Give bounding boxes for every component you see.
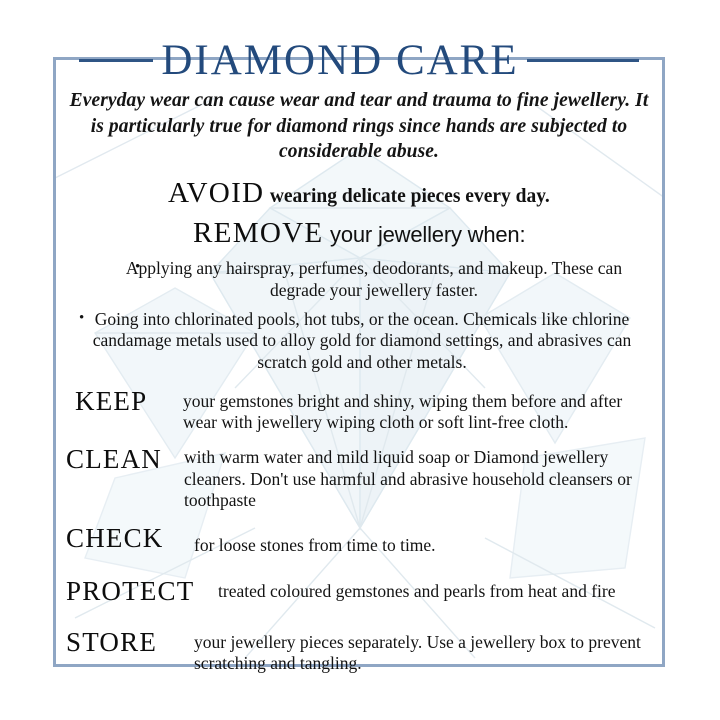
section-keep: KEEP your gemstones bright and shiny, wi…	[61, 386, 657, 434]
section-protect: PROTECT treated coloured gemstones and p…	[61, 576, 657, 607]
avoid-body: wearing delicate pieces every day.	[270, 186, 550, 208]
store-keyword-cell: STORE	[61, 627, 194, 658]
diamond-care-poster: DIAMOND CARE Everyday wear can cause wea…	[0, 0, 720, 720]
remove-bullet-list: • Applying any hairspray, perfumes, deod…	[61, 258, 657, 373]
section-check: CHECK for loose stones from time to time…	[61, 523, 657, 556]
page-title-row: DIAMOND CARE	[61, 39, 657, 82]
clean-body: with warm water and mild liquid soap or …	[184, 444, 657, 511]
page-title: DIAMOND CARE	[159, 39, 520, 82]
check-body: for loose stones from time to time.	[194, 523, 657, 556]
title-rule-right-icon	[527, 59, 639, 62]
avoid-section: AVOID wearing delicate pieces every day.	[61, 178, 657, 210]
remove-keyword: REMOVE	[193, 218, 323, 250]
protect-body: treated coloured gemstones and pearls fr…	[218, 576, 657, 602]
store-body: your jewellery pieces separately. Use a …	[194, 627, 657, 675]
remove-body: your jewellery when:	[330, 222, 525, 248]
intro-paragraph: Everyday wear can cause wear and tear an…	[67, 88, 651, 165]
protect-keyword: PROTECT	[66, 576, 194, 606]
protect-keyword-cell: PROTECT	[61, 576, 218, 607]
section-clean: CLEAN with warm water and mild liquid so…	[61, 444, 657, 511]
clean-keyword: CLEAN	[66, 444, 162, 474]
poster-content: DIAMOND CARE Everyday wear can cause wea…	[53, 57, 665, 667]
keep-body: your gemstones bright and shiny, wiping …	[183, 386, 657, 434]
remove-section: REMOVE your jewellery when:	[61, 218, 657, 250]
list-item-text: Going into chlorinated pools, hot tubs, …	[85, 309, 633, 374]
avoid-keyword: AVOID	[168, 178, 264, 210]
check-keyword: CHECK	[66, 523, 164, 553]
bullet-dot-icon: •	[79, 309, 84, 328]
keep-keyword-cell: KEEP	[61, 386, 183, 417]
bullet-dot-icon: •	[135, 258, 140, 277]
keep-keyword: KEEP	[75, 386, 147, 416]
store-keyword: STORE	[66, 627, 157, 657]
list-item-text: Applying any hairspray, perfumes, deodor…	[85, 258, 633, 301]
list-item: • Going into chlorinated pools, hot tubs…	[61, 309, 657, 374]
check-keyword-cell: CHECK	[61, 523, 194, 554]
list-item: • Applying any hairspray, perfumes, deod…	[61, 258, 657, 301]
title-rule-left-icon	[79, 59, 153, 62]
section-store: STORE your jewellery pieces separately. …	[61, 627, 657, 675]
clean-keyword-cell: CLEAN	[61, 444, 184, 475]
